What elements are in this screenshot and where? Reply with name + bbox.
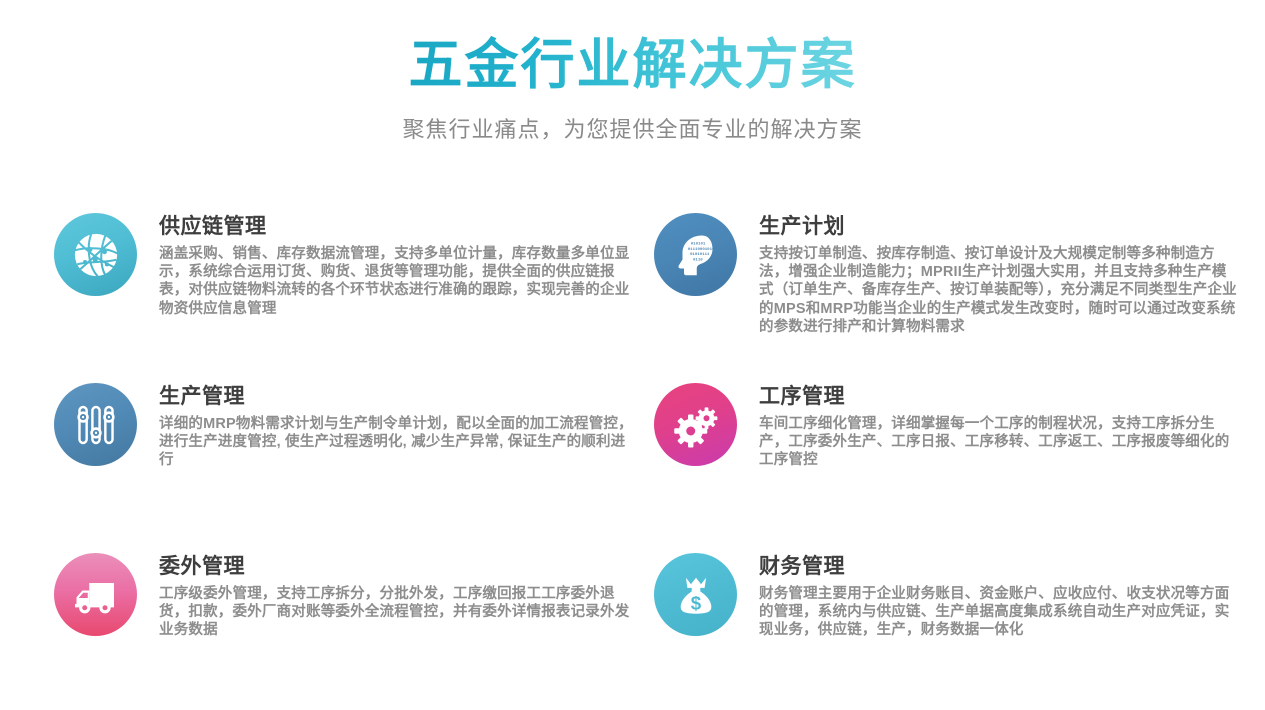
feature-title: 财务管理 [759, 554, 1237, 579]
head-binary-icon: 010101 01110001010 01010111 0110 [654, 213, 737, 296]
feature-text-block: 生产管理 详细的MRP物料需求计划与生产制令单计划，配以全面的加工流程管控，进行… [159, 370, 637, 470]
feature-description: 涵盖采购、销售、库存数据流管理，支持多单位计量，库存数量多单位显示，系统综合运用… [159, 245, 637, 318]
feature-text-block: 财务管理 财务管理主要用于企业财务账目、资金账户、应收应付、收支状况等方面的管理… [759, 540, 1237, 640]
feature-description: 工序级委外管理，支持工序拆分，分批外发，工序缴回报工工序委外退货，扣款，委外厂商… [159, 585, 637, 639]
feature-card-process-mgmt[interactable]: 工序管理 车间工序细化管理，详细掌握每一个工序的制程状况，支持工序拆分生产，工序… [654, 370, 1254, 540]
feature-title: 生产管理 [159, 384, 637, 409]
page-title: 五金行业解决方案 [409, 36, 857, 94]
feature-title: 委外管理 [159, 554, 637, 579]
delivery-truck-icon [54, 553, 137, 636]
gears-icon [654, 383, 737, 466]
feature-text-block: 委外管理 工序级委外管理，支持工序拆分，分批外发，工序缴回报工工序委外退货，扣款… [159, 540, 637, 640]
feature-text-block: 工序管理 车间工序细化管理，详细掌握每一个工序的制程状况，支持工序拆分生产，工序… [759, 370, 1237, 470]
feature-card-production-mgmt[interactable]: 生产管理 详细的MRP物料需求计划与生产制令单计划，配以全面的加工流程管控，进行… [54, 370, 654, 540]
network-globe-icon [54, 213, 137, 296]
feature-grid: 供应链管理 涵盖采购、销售、库存数据流管理，支持多单位计量，库存数量多单位显示，… [0, 200, 1265, 710]
feature-description: 详细的MRP物料需求计划与生产制令单计划，配以全面的加工流程管控，进行生产进度管… [159, 415, 637, 469]
money-bag-icon: $ [654, 553, 737, 636]
feature-title: 生产计划 [759, 214, 1237, 239]
feature-card-production-plan[interactable]: 010101 01110001010 01010111 0110 生产计划 支持… [654, 200, 1254, 370]
feature-card-supply-chain[interactable]: 供应链管理 涵盖采购、销售、库存数据流管理，支持多单位计量，库存数量多单位显示，… [54, 200, 654, 370]
page-header: 五金行业解决方案 聚焦行业痛点，为您提供全面专业的解决方案 [0, 0, 1265, 144]
feature-text-block: 生产计划 支持按订单制造、按库存制造、按订单设计及大规模定制等多种制造方法，增强… [759, 200, 1237, 336]
feature-card-outsourcing[interactable]: 委外管理 工序级委外管理，支持工序拆分，分批外发，工序缴回报工工序委外退货，扣款… [54, 540, 654, 710]
feature-description: 财务管理主要用于企业财务账目、资金账户、应收应付、收支状况等方面的管理，系统内与… [759, 585, 1237, 639]
page-subtitle: 聚焦行业痛点，为您提供全面专业的解决方案 [0, 112, 1265, 144]
feature-title: 工序管理 [759, 384, 1237, 409]
feature-description: 车间工序细化管理，详细掌握每一个工序的制程状况，支持工序拆分生产，工序委外生产、… [759, 415, 1237, 469]
feature-card-finance[interactable]: $ 财务管理 财务管理主要用于企业财务账目、资金账户、应收应付、收支状况等方面的… [654, 540, 1254, 710]
feature-text-block: 供应链管理 涵盖采购、销售、库存数据流管理，支持多单位计量，库存数量多单位显示，… [159, 200, 637, 318]
sliders-icon [54, 383, 137, 466]
feature-title: 供应链管理 [159, 214, 637, 239]
feature-description: 支持按订单制造、按库存制造、按订单设计及大规模定制等多种制造方法，增强企业制造能… [759, 245, 1237, 336]
